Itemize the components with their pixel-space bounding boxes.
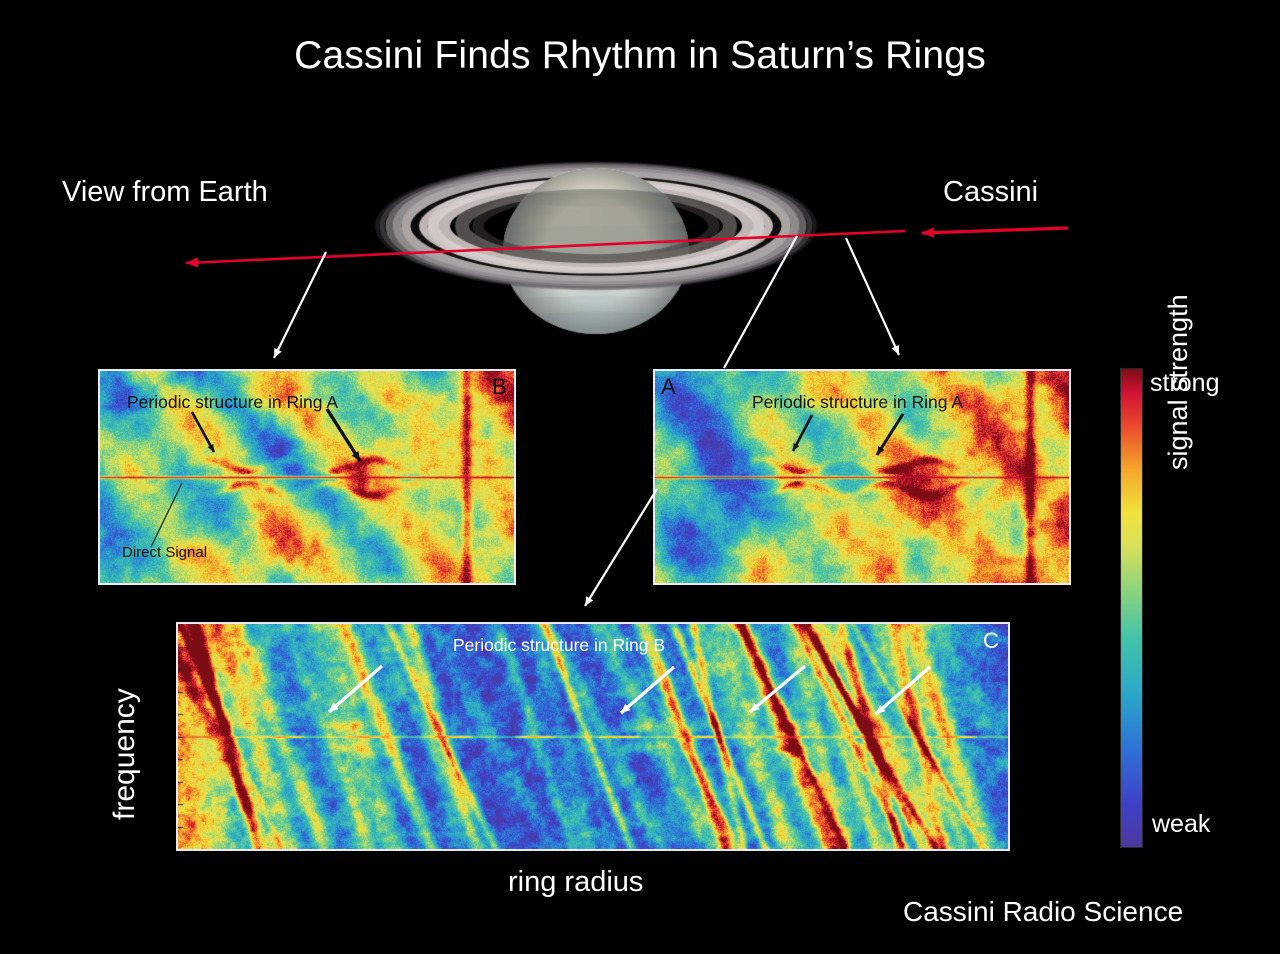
panel-a-caption: Periodic structure in Ring A [752, 394, 963, 412]
panel-letter-c: C [983, 630, 999, 652]
leader-ringA-left-to-panelB-head [274, 348, 282, 358]
leader-panelA-to-panelC-head [585, 596, 593, 606]
colorbar-weak-label: weak [1152, 810, 1210, 839]
panel-letter-b: B [492, 376, 507, 398]
colorbar-gradient [1121, 369, 1142, 847]
cassini-ray-head [922, 227, 934, 238]
colorbar-axis-label: signal strength [1163, 294, 1194, 470]
earth-ray-head [186, 257, 198, 268]
saturn-image [276, 96, 916, 346]
leader-ringA-right-to-panelA-head [892, 345, 899, 355]
credit-label: Cassini Radio Science [903, 896, 1183, 928]
leader-panelA-to-panelC-shaft [585, 489, 657, 606]
spectrogram-panel-c [176, 622, 1010, 851]
cassini-label: Cassini [943, 176, 1038, 209]
frequency-axis-label: frequency [108, 688, 142, 820]
direct-signal-label: Direct Signal [122, 545, 207, 560]
view-from-earth-label: View from Earth [62, 176, 268, 209]
panel-c-caption: Periodic structure in Ring B [453, 637, 665, 655]
page-title: Cassini Finds Rhythm in Saturn’s Rings [0, 34, 1280, 78]
figure-root: Cassini Finds Rhythm in Saturn’s Rings V… [0, 0, 1280, 954]
colorbar [1120, 368, 1143, 848]
ring-radius-axis-label: ring radius [508, 866, 643, 899]
panel-b-caption: Periodic structure in Ring A [127, 394, 338, 412]
cassini-ray-shaft [922, 228, 1068, 233]
panel-letter-a: A [661, 376, 676, 398]
